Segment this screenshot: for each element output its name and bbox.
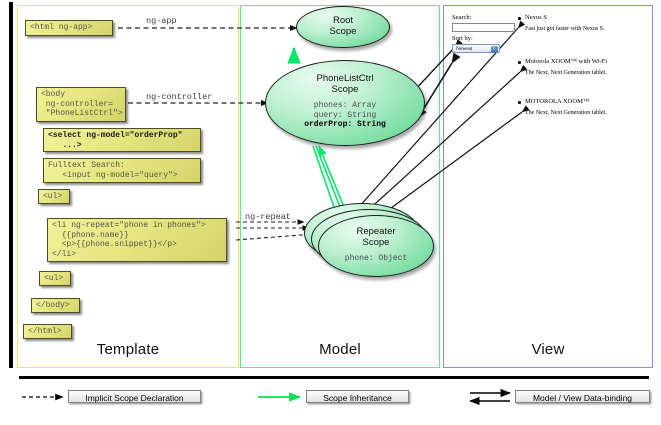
legend-arrow-layer (0, 0, 661, 425)
diagram-canvas: ng-app ng-controller ng-repeat <html ng-… (0, 0, 661, 425)
